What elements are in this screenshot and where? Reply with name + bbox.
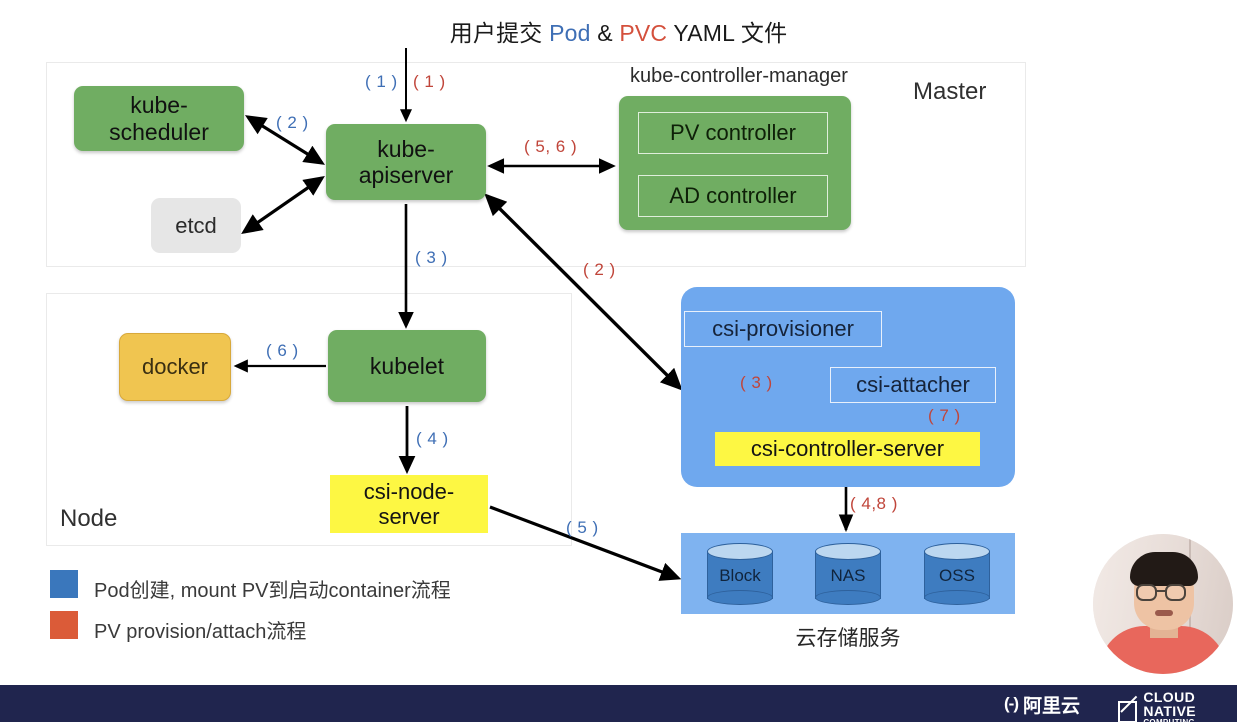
title-prefix: 用户提交 [450,20,549,46]
csi-node-server-label-line2: server [378,504,439,529]
ad-controller-label: AD controller [669,183,796,208]
legend-label-pv-flow: PV provision/attach流程 [94,615,306,644]
kube-scheduler-label: kube-scheduler [109,92,209,145]
cncf-logo-text: CLOUD NATIVE COMPUTING FOUNDATION [1143,690,1237,722]
step-label-7-red: ( 7 ) [928,406,961,426]
step-label-1-red: ( 1 ) [413,72,446,92]
step-label-2-blue: ( 2 ) [276,113,309,133]
step-label-1-blue: ( 1 ) [365,72,398,92]
storage-disk-label: NAS [815,561,881,591]
cylinder-top [924,543,990,560]
kubelet-box[interactable]: kubelet [328,330,486,402]
kube-controller-manager-label: kube-controller-manager [619,65,859,88]
kube-scheduler-box[interactable]: kube-scheduler [74,86,244,151]
csi-node-server-label-line1: csi-node- [364,479,454,504]
csi-attacher-box[interactable]: csi-attacher [830,367,996,403]
etcd-box[interactable]: etcd [151,198,241,253]
title-pod: Pod [549,20,591,46]
cncf-mark-icon [1118,701,1137,722]
kube-apiserver-box[interactable]: kube-apiserver [326,124,486,200]
legend-swatch-pod-flow [50,570,78,598]
docker-box[interactable]: docker [119,333,231,401]
cloud-storage-panel: Block NAS OSS [681,533,1015,614]
master-panel-label: Master [913,78,986,106]
cylinder-bottom [924,590,990,605]
step-label-4-8-red: ( 4,8 ) [850,494,898,514]
presenter-mouth [1155,610,1173,616]
csi-controller-server-box[interactable]: csi-controller-server [715,432,980,466]
node-panel [46,293,572,546]
slide-canvas: 用户提交 Pod & PVC YAML 文件 Master Node [0,0,1237,722]
docker-label: docker [142,354,208,379]
kube-apiserver-label: kube-apiserver [359,136,454,189]
cylinder-bottom [707,590,773,605]
pv-controller-box[interactable]: PV controller [638,112,828,154]
etcd-label: etcd [175,213,217,238]
node-panel-label: Node [60,505,117,533]
storage-disk-label: OSS [924,561,990,591]
glasses-bridge-icon [1156,590,1166,592]
storage-disk-label: Block [707,561,773,591]
ad-controller-box[interactable]: AD controller [638,175,828,217]
step-label-3-red: ( 3 ) [740,373,773,393]
alibaba-cloud-logo: (-) 阿里云 [1004,692,1080,716]
legend-swatch-pv-flow [50,611,78,639]
presenter-hair [1130,552,1198,586]
csi-provisioner-label: csi-provisioner [712,316,854,341]
title-suffix: YAML 文件 [667,20,787,46]
cylinder-top [707,543,773,560]
cylinder-bottom [815,590,881,605]
legend-label-pod-flow: Pod创建, mount PV到启动container流程 [94,574,451,603]
storage-disk-oss[interactable]: OSS [924,543,990,605]
csi-provisioner-box[interactable]: csi-provisioner [684,311,882,347]
title-amp: & [591,20,620,46]
cncf-line1: CLOUD NATIVE [1143,690,1237,719]
step-label-3-blue: ( 3 ) [415,248,448,268]
csi-attacher-label: csi-attacher [856,372,970,397]
storage-disk-nas[interactable]: NAS [815,543,881,605]
alibaba-cloud-mark-icon: (-) [1004,694,1018,714]
presenter-webcam-avatar [1093,534,1233,674]
csi-controller-server-label: csi-controller-server [751,436,944,461]
storage-disk-block[interactable]: Block [707,543,773,605]
step-label-6-blue: ( 6 ) [266,341,299,361]
step-label-2-red: ( 2 ) [583,260,616,280]
cncf-line2: COMPUTING FOUNDATION [1143,719,1237,722]
slide-title: 用户提交 Pod & PVC YAML 文件 [0,14,1237,48]
glasses-left-lens-icon [1136,584,1157,601]
cloud-storage-caption: 云存储服务 [681,622,1015,652]
cylinder-top [815,543,881,560]
step-label-5-blue: ( 5 ) [566,518,599,538]
kubelet-label: kubelet [370,353,444,379]
step-label-5-6-red: ( 5, 6 ) [524,137,577,157]
alibaba-cloud-text: 阿里云 [1023,691,1080,718]
pv-controller-label: PV controller [670,120,796,145]
cncf-logo: CLOUD NATIVE COMPUTING FOUNDATION [1118,690,1237,722]
title-pvc: PVC [619,20,667,46]
glasses-right-lens-icon [1165,584,1186,601]
step-label-4-blue: ( 4 ) [416,429,449,449]
csi-node-server-box[interactable]: csi-node- server [330,475,488,533]
